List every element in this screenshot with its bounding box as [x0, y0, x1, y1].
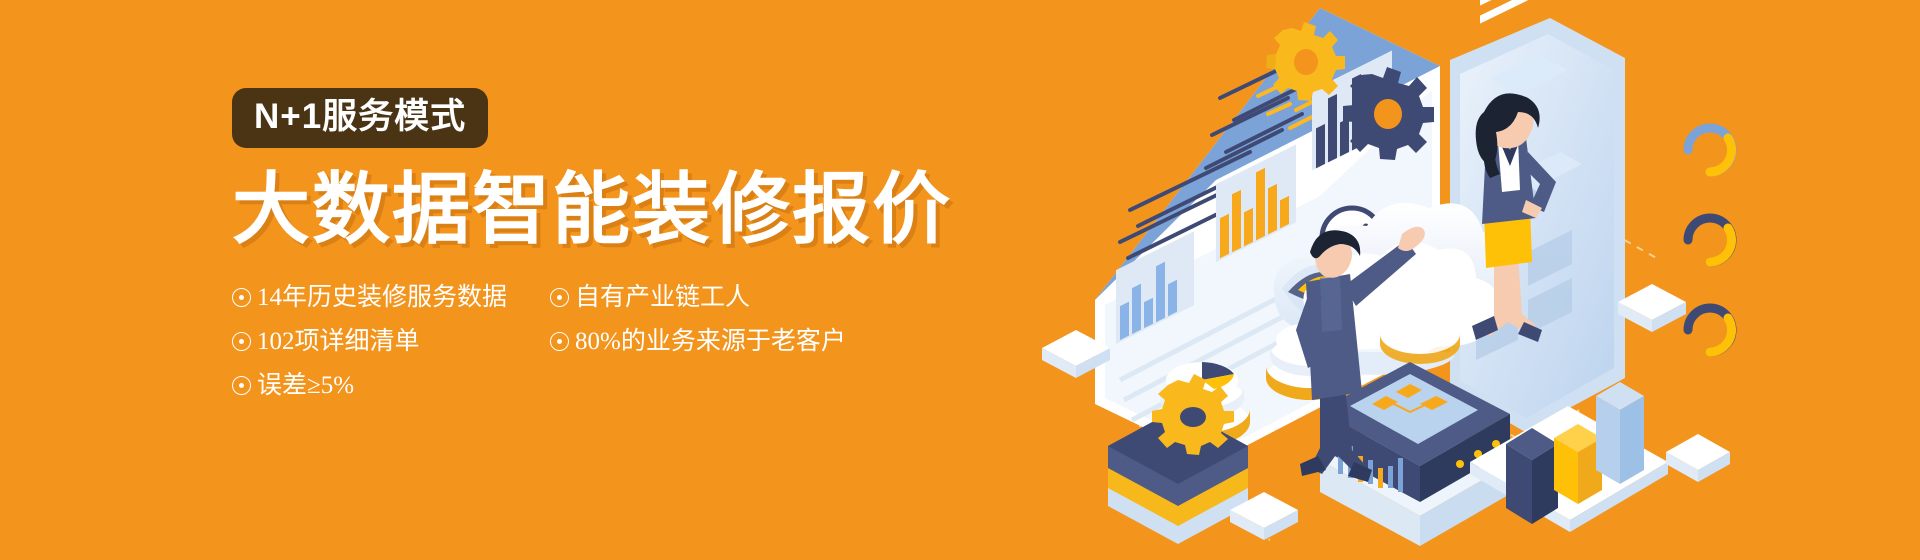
gear-navy	[1343, 67, 1434, 160]
smartphone-profile	[1450, 0, 1625, 432]
ring-chart-stack	[1688, 128, 1732, 352]
list-item: 102项详细清单	[232, 329, 550, 354]
list-item-label: 80%的业务来源于老客户	[575, 329, 846, 354]
list-item-label: 14年历史装修服务数据	[257, 285, 507, 310]
feature-bullet-list: 14年历史装修服务数据 自有产业链工人 102项详细清单 80%的业务来源于老客…	[232, 276, 992, 408]
hero-banner: N+1服务模式 大数据智能装修报价 14年历史装修服务数据 自有产业链工人 10…	[0, 0, 1920, 560]
circled-dot-icon	[550, 332, 569, 351]
list-item-label: 自有产业链工人	[575, 285, 750, 310]
isometric-big-data-illustration	[1020, 0, 1920, 560]
circled-dot-icon	[232, 376, 251, 395]
list-item: 80%的业务来源于老客户	[550, 329, 992, 354]
list-item-label: 误差≥5%	[257, 373, 354, 398]
circled-dot-icon	[232, 332, 251, 351]
list-item: 14年历史装修服务数据	[232, 285, 550, 310]
circled-dot-icon	[232, 288, 251, 307]
list-item: 误差≥5%	[232, 373, 550, 398]
service-model-badge: N+1服务模式	[232, 88, 488, 148]
bar-lightblue	[1596, 382, 1644, 484]
bar-navy	[1506, 428, 1558, 524]
bar-yellow	[1554, 424, 1602, 504]
circled-dot-icon	[550, 288, 569, 307]
list-item-label: 102项详细清单	[257, 329, 420, 354]
banner-copy: N+1服务模式 大数据智能装修报价 14年历史装修服务数据 自有产业链工人 10…	[232, 88, 992, 408]
list-item: 自有产业链工人	[550, 285, 992, 310]
page-title: 大数据智能装修报价	[232, 170, 992, 250]
